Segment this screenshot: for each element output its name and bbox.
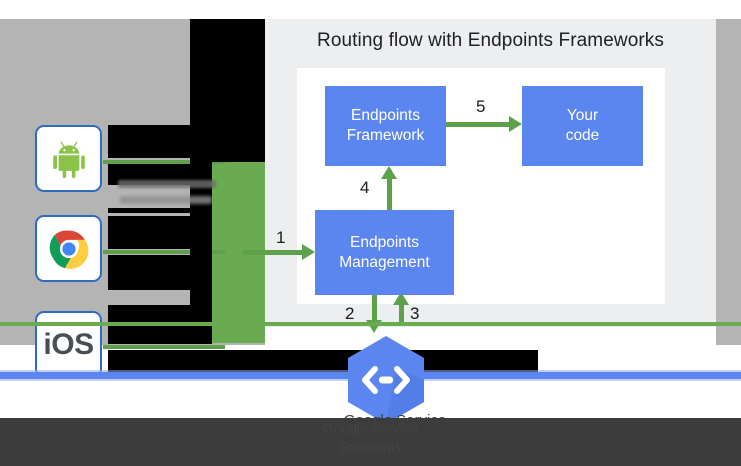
green-divider-rule <box>0 322 741 326</box>
arrow-4-shaft <box>387 178 392 210</box>
occlusion-rect-7 <box>108 350 538 372</box>
client-tile-chrome[interactable] <box>35 215 102 282</box>
arrow-1-head <box>302 244 315 260</box>
bottom-overlay-caption: Google Service Endpoints <box>0 419 741 457</box>
occlusion-rect-10 <box>190 162 212 343</box>
obscured-label-line-2 <box>120 196 212 204</box>
arrow-label-4: 4 <box>360 178 369 198</box>
diagram-title: Routing flow with Endpoints Frameworks <box>265 30 716 52</box>
node-your-code-label: Your code <box>566 106 600 146</box>
client-ios-connector <box>103 345 225 349</box>
arrow-4-head <box>381 166 397 179</box>
node-endpoints-framework-label: Endpoints Framework <box>347 106 425 146</box>
arrow-label-1: 1 <box>276 228 285 248</box>
obscured-label-line-1 <box>118 180 216 188</box>
chrome-icon <box>47 227 91 271</box>
node-endpoints-management-label: Endpoints Management <box>339 233 429 273</box>
arrow-1-shaft <box>243 250 305 255</box>
arrow-label-2: 2 <box>345 304 354 324</box>
ios-label: iOS <box>43 328 93 362</box>
arrow-5-shaft <box>446 122 512 127</box>
occlusion-rect-9 <box>190 19 265 162</box>
arrow-5-head <box>509 116 522 132</box>
arrow-2-shaft <box>372 295 377 323</box>
screenshot-stage: Routing flow with Endpoints Frameworks 5… <box>0 0 741 466</box>
node-your-code[interactable]: Your code <box>522 86 643 166</box>
arrow-label-5: 5 <box>476 97 485 117</box>
arrow-label-3: 3 <box>410 304 419 324</box>
node-endpoints-management[interactable]: Endpoints Management <box>315 210 454 295</box>
client-tile-android[interactable] <box>35 125 102 192</box>
node-endpoints-framework[interactable]: Endpoints Framework <box>325 86 446 166</box>
android-icon <box>50 139 88 179</box>
